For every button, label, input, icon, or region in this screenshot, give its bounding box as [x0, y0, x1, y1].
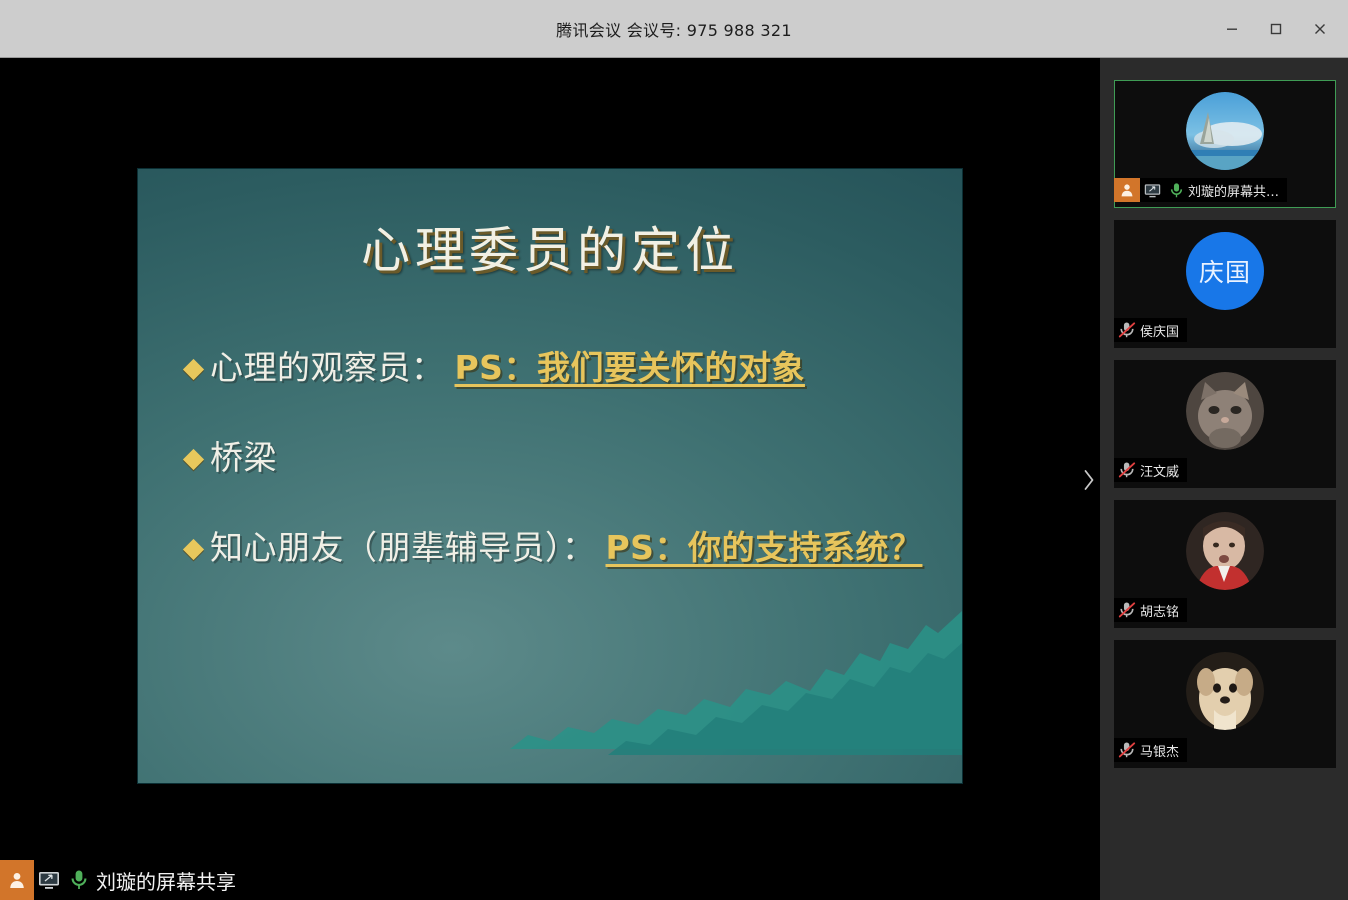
meeting-window: 腾讯会议 会议号: 975 988 321 — [0, 0, 1348, 900]
microphone-muted-icon — [1114, 738, 1140, 762]
meeting-stage: 心理委员的定位 心理的观察员：PS：我们要关怀的对象 桥梁 — [0, 58, 1348, 900]
bullet-main-text: 知心朋友（朋辈辅导员）： — [210, 528, 596, 567]
participant-tile[interactable]: 庆国 侯庆国 — [1114, 220, 1336, 348]
participant-name: 侯庆国 — [1140, 321, 1179, 340]
minimize-button[interactable] — [1210, 9, 1254, 49]
participant-tile[interactable]: 马银杰 — [1114, 640, 1336, 768]
screen-share-icon — [34, 860, 64, 900]
bullet-accent-text: PS：我们要关怀的对象 — [455, 348, 805, 387]
diamond-bullet-icon — [183, 449, 204, 470]
title-bar: 腾讯会议 会议号: 975 988 321 — [0, 0, 1348, 58]
participant-footer: 侯庆国 — [1114, 318, 1187, 342]
slide-bullet-text: 心理的观察员：PS：我们要关怀的对象 — [210, 347, 805, 389]
shared-screen-area[interactable]: 心理委员的定位 心理的观察员：PS：我们要关怀的对象 桥梁 — [0, 58, 1100, 900]
maximize-icon — [1268, 21, 1284, 37]
diamond-bullet-icon — [183, 359, 204, 380]
slide-bullet-text: 桥梁 — [210, 437, 277, 479]
maximize-button[interactable] — [1254, 9, 1298, 49]
person-icon — [0, 860, 34, 900]
microphone-muted-icon — [1114, 598, 1140, 622]
participant-tile[interactable]: 胡志铭 — [1114, 500, 1336, 628]
avatar — [1186, 92, 1264, 170]
participant-name: 胡志铭 — [1140, 601, 1179, 620]
microphone-muted-icon — [1114, 458, 1140, 482]
screen-share-icon — [1140, 178, 1164, 202]
microphone-icon — [1164, 178, 1188, 202]
bullet-main-text: 心理的观察员： — [210, 348, 445, 387]
participant-footer: 汪文威 — [1114, 458, 1187, 482]
participant-tile[interactable]: 汪文威 — [1114, 360, 1336, 488]
window-controls — [1210, 0, 1342, 58]
screen-share-owner-name: 刘璇的屏幕共享 — [96, 866, 236, 895]
presentation-slide: 心理委员的定位 心理的观察员：PS：我们要关怀的对象 桥梁 — [138, 169, 962, 783]
slide-bullet: 知心朋友（朋辈辅导员）：PS：你的支持系统？ — [186, 527, 934, 569]
avatar: 庆国 — [1186, 232, 1264, 310]
bullet-main-text: 桥梁 — [210, 438, 277, 477]
screen-share-status-bar: 刘璇的屏幕共享 — [0, 860, 250, 900]
window-title: 腾讯会议 会议号: 975 988 321 — [556, 17, 792, 41]
minimize-icon — [1224, 21, 1240, 37]
diamond-bullet-icon — [183, 539, 204, 560]
person-icon — [1114, 178, 1140, 202]
participant-name: 汪文威 — [1140, 461, 1179, 480]
slide-bullet-text: 知心朋友（朋辈辅导员）：PS：你的支持系统？ — [210, 527, 922, 569]
avatar — [1186, 372, 1264, 450]
chevron-right-icon[interactable] — [1078, 458, 1100, 502]
slide-body: 心理的观察员：PS：我们要关怀的对象 桥梁 知心朋友（朋辈辅导员）：PS：你的支… — [186, 347, 934, 618]
avatar — [1186, 652, 1264, 730]
bullet-accent-text: PS：你的支持系统？ — [606, 528, 923, 567]
close-button[interactable] — [1298, 9, 1342, 49]
avatar-initials: 庆国 — [1199, 253, 1251, 289]
slide-bullet: 心理的观察员：PS：我们要关怀的对象 — [186, 347, 934, 389]
microphone-muted-icon — [1114, 318, 1140, 342]
participant-footer: 马银杰 — [1114, 738, 1187, 762]
mountain-silhouette-decoration — [138, 603, 962, 783]
participant-footer: 刘璇的屏幕共… — [1114, 178, 1287, 202]
close-icon — [1312, 21, 1328, 37]
microphone-icon — [64, 860, 94, 900]
participant-name: 马银杰 — [1140, 741, 1179, 760]
participant-footer: 胡志铭 — [1114, 598, 1187, 622]
slide-title: 心理委员的定位 — [138, 211, 962, 282]
participant-tile[interactable]: 刘璇的屏幕共… — [1114, 80, 1336, 208]
participant-rail: 刘璇的屏幕共… 庆国 侯庆国 — [1100, 58, 1348, 900]
participant-name: 刘璇的屏幕共… — [1188, 181, 1279, 200]
avatar — [1186, 512, 1264, 590]
slide-bullet: 桥梁 — [186, 437, 934, 479]
